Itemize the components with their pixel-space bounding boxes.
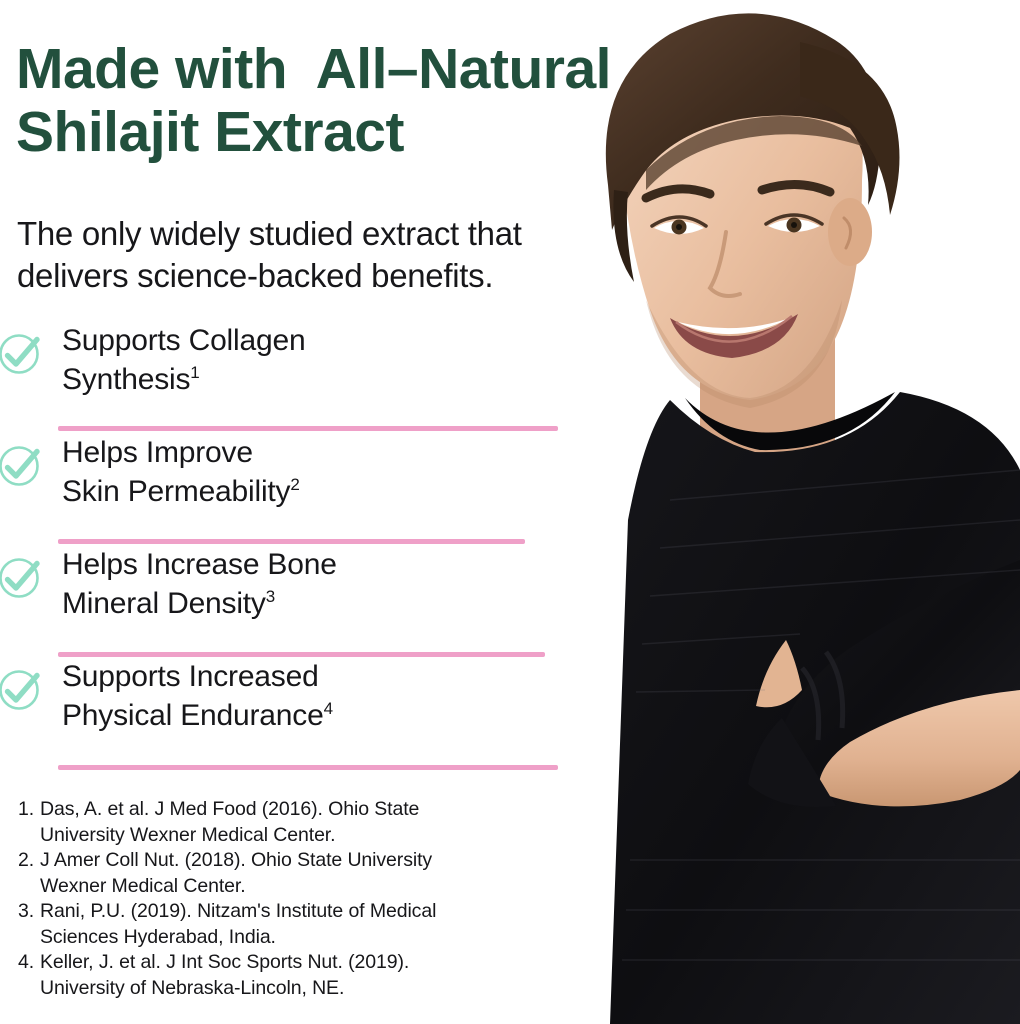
- check-circle-icon: [0, 555, 42, 601]
- footnotes: 1. Das, A. et al. J Med Food (2016). Ohi…: [18, 797, 488, 1001]
- footnote-text: Keller, J. et al. J Int Soc Sports Nut. …: [40, 950, 488, 1001]
- benefit-line-2: Mineral Density3: [62, 584, 562, 623]
- benefit-text: Helps Increase Bone Mineral Density3: [62, 545, 562, 623]
- footnote-number: 2.: [18, 848, 40, 899]
- check-circle-icon: [0, 667, 42, 713]
- benefit-line-1: Supports Increased: [62, 657, 562, 696]
- footnote-number: 1.: [18, 797, 40, 848]
- footnote-item: 1. Das, A. et al. J Med Food (2016). Ohi…: [18, 797, 488, 848]
- benefit-text: Supports Increased Physical Endurance4: [62, 657, 562, 735]
- benefit-text: Supports Collagen Synthesis1: [62, 321, 562, 399]
- footnote-text: J Amer Coll Nut. (2018). Ohio State Univ…: [40, 848, 488, 899]
- benefit-line-2: Synthesis1: [62, 360, 562, 399]
- benefit-line-1: Helps Increase Bone: [62, 545, 562, 584]
- benefit-text: Helps Improve Skin Permeability2: [62, 433, 562, 511]
- footnote-item: 2. J Amer Coll Nut. (2018). Ohio State U…: [18, 848, 488, 899]
- benefit-reference: 1: [190, 363, 199, 382]
- benefits-list: Supports Collagen Synthesis1 Helps Impro…: [0, 325, 600, 773]
- subheadline-line-1: The only widely studied extract that: [17, 213, 647, 255]
- footnote-text: Das, A. et al. J Med Food (2016). Ohio S…: [40, 797, 488, 848]
- benefit-item: Supports Increased Physical Endurance4: [0, 661, 600, 773]
- divider-3: [58, 652, 545, 657]
- subheadline: The only widely studied extract that del…: [17, 213, 647, 297]
- divider-2: [58, 539, 525, 544]
- benefit-reference: 2: [290, 475, 299, 494]
- footnote-number: 3.: [18, 899, 40, 950]
- subheadline-line-2: delivers science-backed benefits.: [17, 255, 647, 297]
- footnote-item: 4. Keller, J. et al. J Int Soc Sports Nu…: [18, 950, 488, 1001]
- divider-4: [58, 765, 558, 770]
- benefit-line-1: Helps Improve: [62, 433, 562, 472]
- benefit-line-2: Skin Permeability2: [62, 472, 562, 511]
- benefit-line-2: Physical Endurance4: [62, 696, 562, 735]
- check-circle-icon: [0, 331, 42, 377]
- promo-card: Made with All–Natural Shilajit Extract T…: [0, 0, 1020, 1024]
- benefit-line-1: Supports Collagen: [62, 321, 562, 360]
- headline-line-2: Shilajit Extract: [16, 101, 676, 164]
- benefit-item: Helps Improve Skin Permeability2: [0, 437, 600, 549]
- check-circle-icon: [0, 443, 42, 489]
- footnote-item: 3. Rani, P.U. (2019). Nitzam's Institute…: [18, 899, 488, 950]
- benefit-reference: 3: [266, 587, 275, 606]
- page-title: Made with All–Natural Shilajit Extract: [16, 38, 676, 164]
- benefit-item: Helps Increase Bone Mineral Density3: [0, 549, 600, 661]
- benefit-reference: 4: [324, 699, 333, 718]
- footnote-text: Rani, P.U. (2019). Nitzam's Institute of…: [40, 899, 488, 950]
- footnote-number: 4.: [18, 950, 40, 1001]
- benefit-item: Supports Collagen Synthesis1: [0, 325, 600, 437]
- headline-line-1: Made with All–Natural: [16, 38, 676, 101]
- divider-1: [58, 426, 558, 431]
